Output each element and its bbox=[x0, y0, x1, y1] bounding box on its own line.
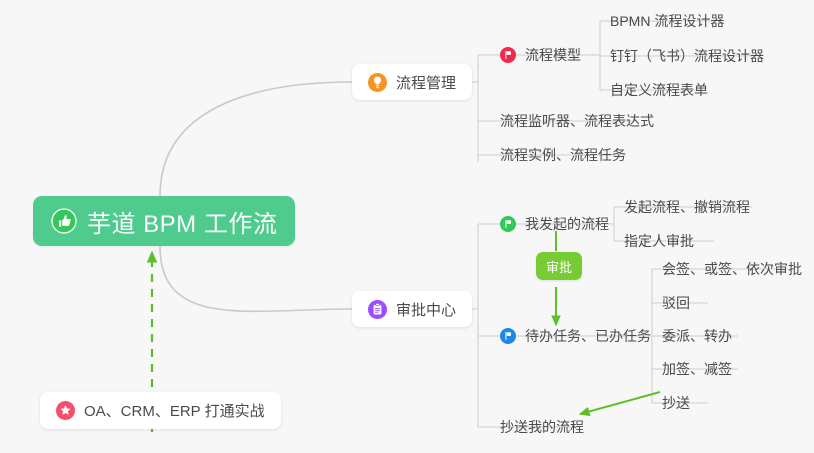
node-todo-done-task[interactable]: 待办任务、已办任务 bbox=[492, 321, 657, 351]
node-label: BPMN 流程设计器 bbox=[610, 11, 724, 31]
approval-badge: 审批 bbox=[536, 252, 582, 280]
clipboard-icon bbox=[368, 300, 387, 319]
flag-icon bbox=[500, 47, 516, 63]
footer-node-label: OA、CRM、ERP 打通实战 bbox=[84, 400, 265, 421]
branch-node-process-management[interactable]: 流程管理 bbox=[352, 64, 472, 100]
node-countersign-or-sequential[interactable]: 会签、或签、依次审批 bbox=[654, 254, 808, 284]
node-start-cancel-process[interactable]: 发起流程、撤销流程 bbox=[616, 192, 756, 222]
node-label: 自定义流程表单 bbox=[610, 80, 708, 100]
node-process-listener-expression[interactable]: 流程监听器、流程表达式 bbox=[492, 106, 660, 136]
branch-node-label: 流程管理 bbox=[396, 72, 456, 93]
node-assignee-approval[interactable]: 指定人审批 bbox=[616, 226, 700, 256]
node-label: 加签、减签 bbox=[662, 359, 732, 379]
node-process-instance-task[interactable]: 流程实例、流程任务 bbox=[492, 140, 632, 170]
node-label: 抄送 bbox=[662, 393, 690, 413]
node-label: 流程监听器、流程表达式 bbox=[500, 111, 654, 131]
node-label: 待办任务、已办任务 bbox=[525, 326, 651, 346]
node-label: 抄送我的流程 bbox=[500, 417, 584, 437]
node-label: 我发起的流程 bbox=[525, 214, 609, 234]
node-process-model[interactable]: 流程模型 bbox=[492, 40, 587, 70]
approval-badge-label: 审批 bbox=[546, 257, 572, 276]
node-custom-process-form[interactable]: 自定义流程表单 bbox=[602, 75, 714, 105]
flag-icon bbox=[500, 216, 516, 232]
node-label: 流程实例、流程任务 bbox=[500, 145, 626, 165]
lightbulb-icon bbox=[368, 73, 387, 92]
node-my-initiated-process[interactable]: 我发起的流程 bbox=[492, 209, 615, 239]
node-delegate-transfer[interactable]: 委派、转办 bbox=[654, 321, 738, 351]
node-bpmn-designer[interactable]: BPMN 流程设计器 bbox=[602, 6, 730, 36]
node-label: 委派、转办 bbox=[662, 326, 732, 346]
flag-icon bbox=[500, 328, 516, 344]
node-label: 发起流程、撤销流程 bbox=[624, 197, 750, 217]
node-label: 钉钉（飞书）流程设计器 bbox=[610, 46, 764, 66]
node-cc[interactable]: 抄送 bbox=[654, 388, 696, 418]
root-node[interactable]: 芋道 BPM 工作流 bbox=[33, 196, 295, 246]
node-label: 流程模型 bbox=[525, 45, 581, 65]
thumbs-up-icon bbox=[51, 208, 77, 234]
node-label: 指定人审批 bbox=[624, 231, 694, 251]
node-label: 会签、或签、依次审批 bbox=[662, 259, 802, 279]
footer-node-integration-practice[interactable]: OA、CRM、ERP 打通实战 bbox=[40, 392, 281, 429]
node-cc-to-me-process[interactable]: 抄送我的流程 bbox=[492, 412, 590, 442]
branch-node-label: 审批中心 bbox=[396, 299, 456, 320]
node-add-remove-sign[interactable]: 加签、减签 bbox=[654, 354, 738, 384]
root-node-label: 芋道 BPM 工作流 bbox=[87, 204, 277, 239]
star-icon bbox=[56, 401, 75, 420]
node-dingtalk-feishu-designer[interactable]: 钉钉（飞书）流程设计器 bbox=[602, 41, 770, 71]
node-label: 驳回 bbox=[662, 293, 690, 313]
mindmap-canvas: 芋道 BPM 工作流 流程管理 流程模型 BPMN 流程设计器 钉钉（飞书）流程 bbox=[0, 0, 814, 453]
branch-node-approval-center[interactable]: 审批中心 bbox=[352, 291, 472, 327]
node-reject[interactable]: 驳回 bbox=[654, 288, 696, 318]
